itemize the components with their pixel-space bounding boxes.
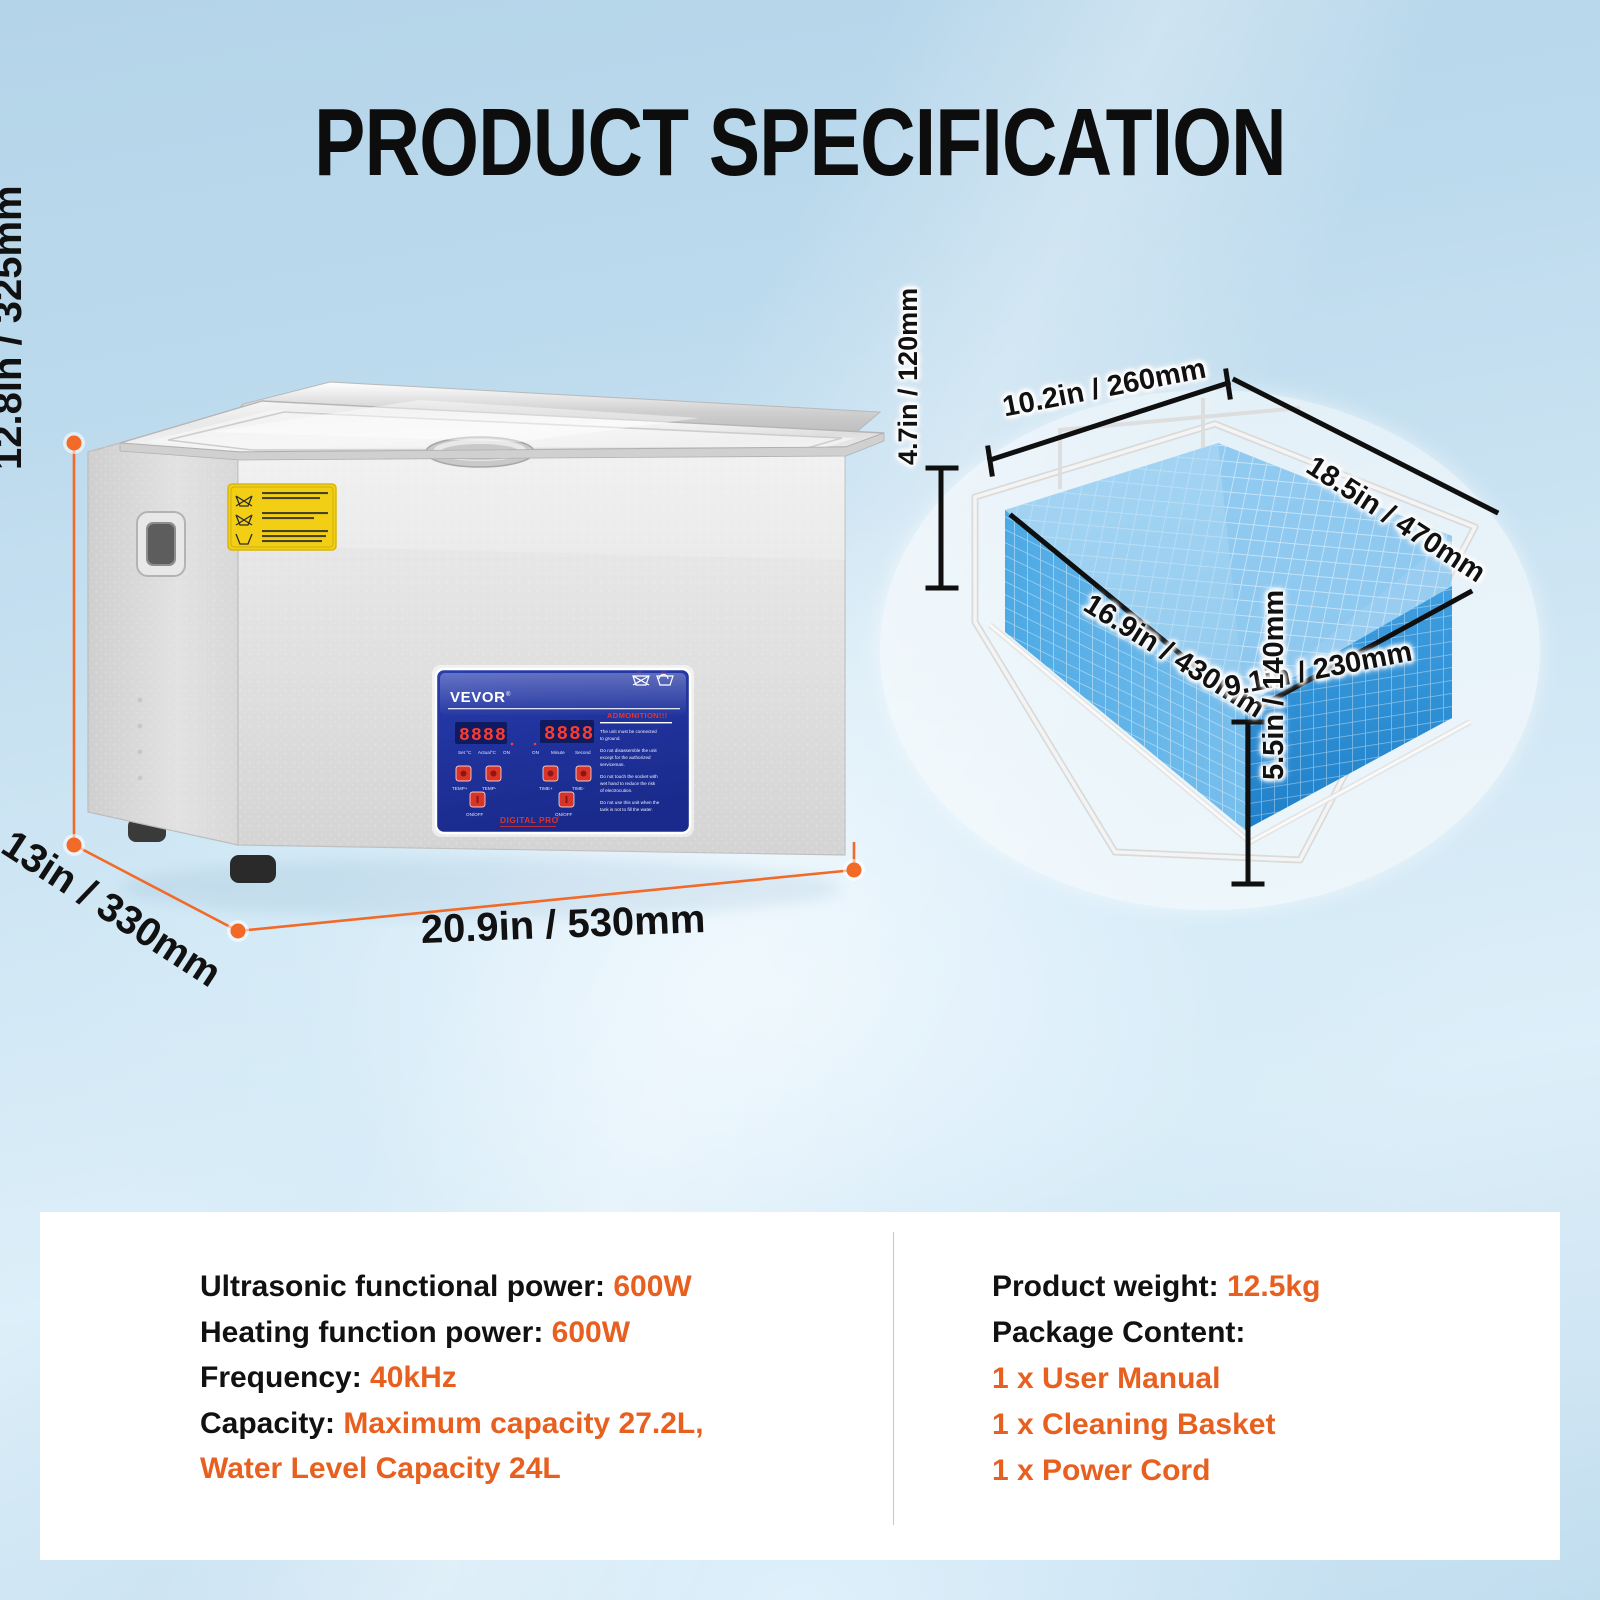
spec-value: 600W: [613, 1270, 691, 1303]
package-item: 1 x User Manual: [992, 1356, 1560, 1402]
specification-panel: Ultrasonic functional power: 600W Heatin…: [40, 1212, 1560, 1560]
spec-row: Product weight: 12.5kg: [992, 1264, 1560, 1310]
basket-lip-height-label: 4.7in / 120mm: [893, 288, 924, 465]
spec-row: Water Level Capacity 24L: [200, 1446, 893, 1492]
package-item: 1 x Power Cord: [992, 1448, 1560, 1494]
spec-label: Frequency:: [200, 1361, 370, 1394]
spec-value: 600W: [552, 1316, 630, 1349]
package-item: 1 x Cleaning Basket: [992, 1402, 1560, 1448]
page-title: PRODUCT SPECIFICATION: [160, 88, 1440, 198]
machine-height-label: 12.8in / 325mm: [0, 185, 31, 470]
spec-column-right: Product weight: 12.5kg Package Content: …: [894, 1212, 1560, 1560]
spec-value: 40kHz: [370, 1361, 457, 1394]
spec-row: Frequency: 40kHz: [200, 1355, 893, 1401]
spec-label: Product weight:: [992, 1270, 1227, 1303]
spec-label: Capacity:: [200, 1407, 343, 1440]
spec-label: Heating function power:: [200, 1316, 552, 1349]
spec-row: Package Content:: [992, 1310, 1560, 1356]
spec-column-left: Ultrasonic functional power: 600W Heatin…: [40, 1212, 893, 1560]
basket-depth-label: 5.5in / 140mm: [1258, 590, 1291, 780]
spec-label: Ultrasonic functional power:: [200, 1270, 613, 1303]
spec-row: Ultrasonic functional power: 600W: [200, 1264, 893, 1310]
spec-row: Heating function power: 600W: [200, 1310, 893, 1356]
spec-value: Maximum capacity 27.2L,: [343, 1407, 703, 1440]
spec-value: 12.5kg: [1227, 1270, 1320, 1303]
spec-row: Capacity: Maximum capacity 27.2L,: [200, 1401, 893, 1447]
